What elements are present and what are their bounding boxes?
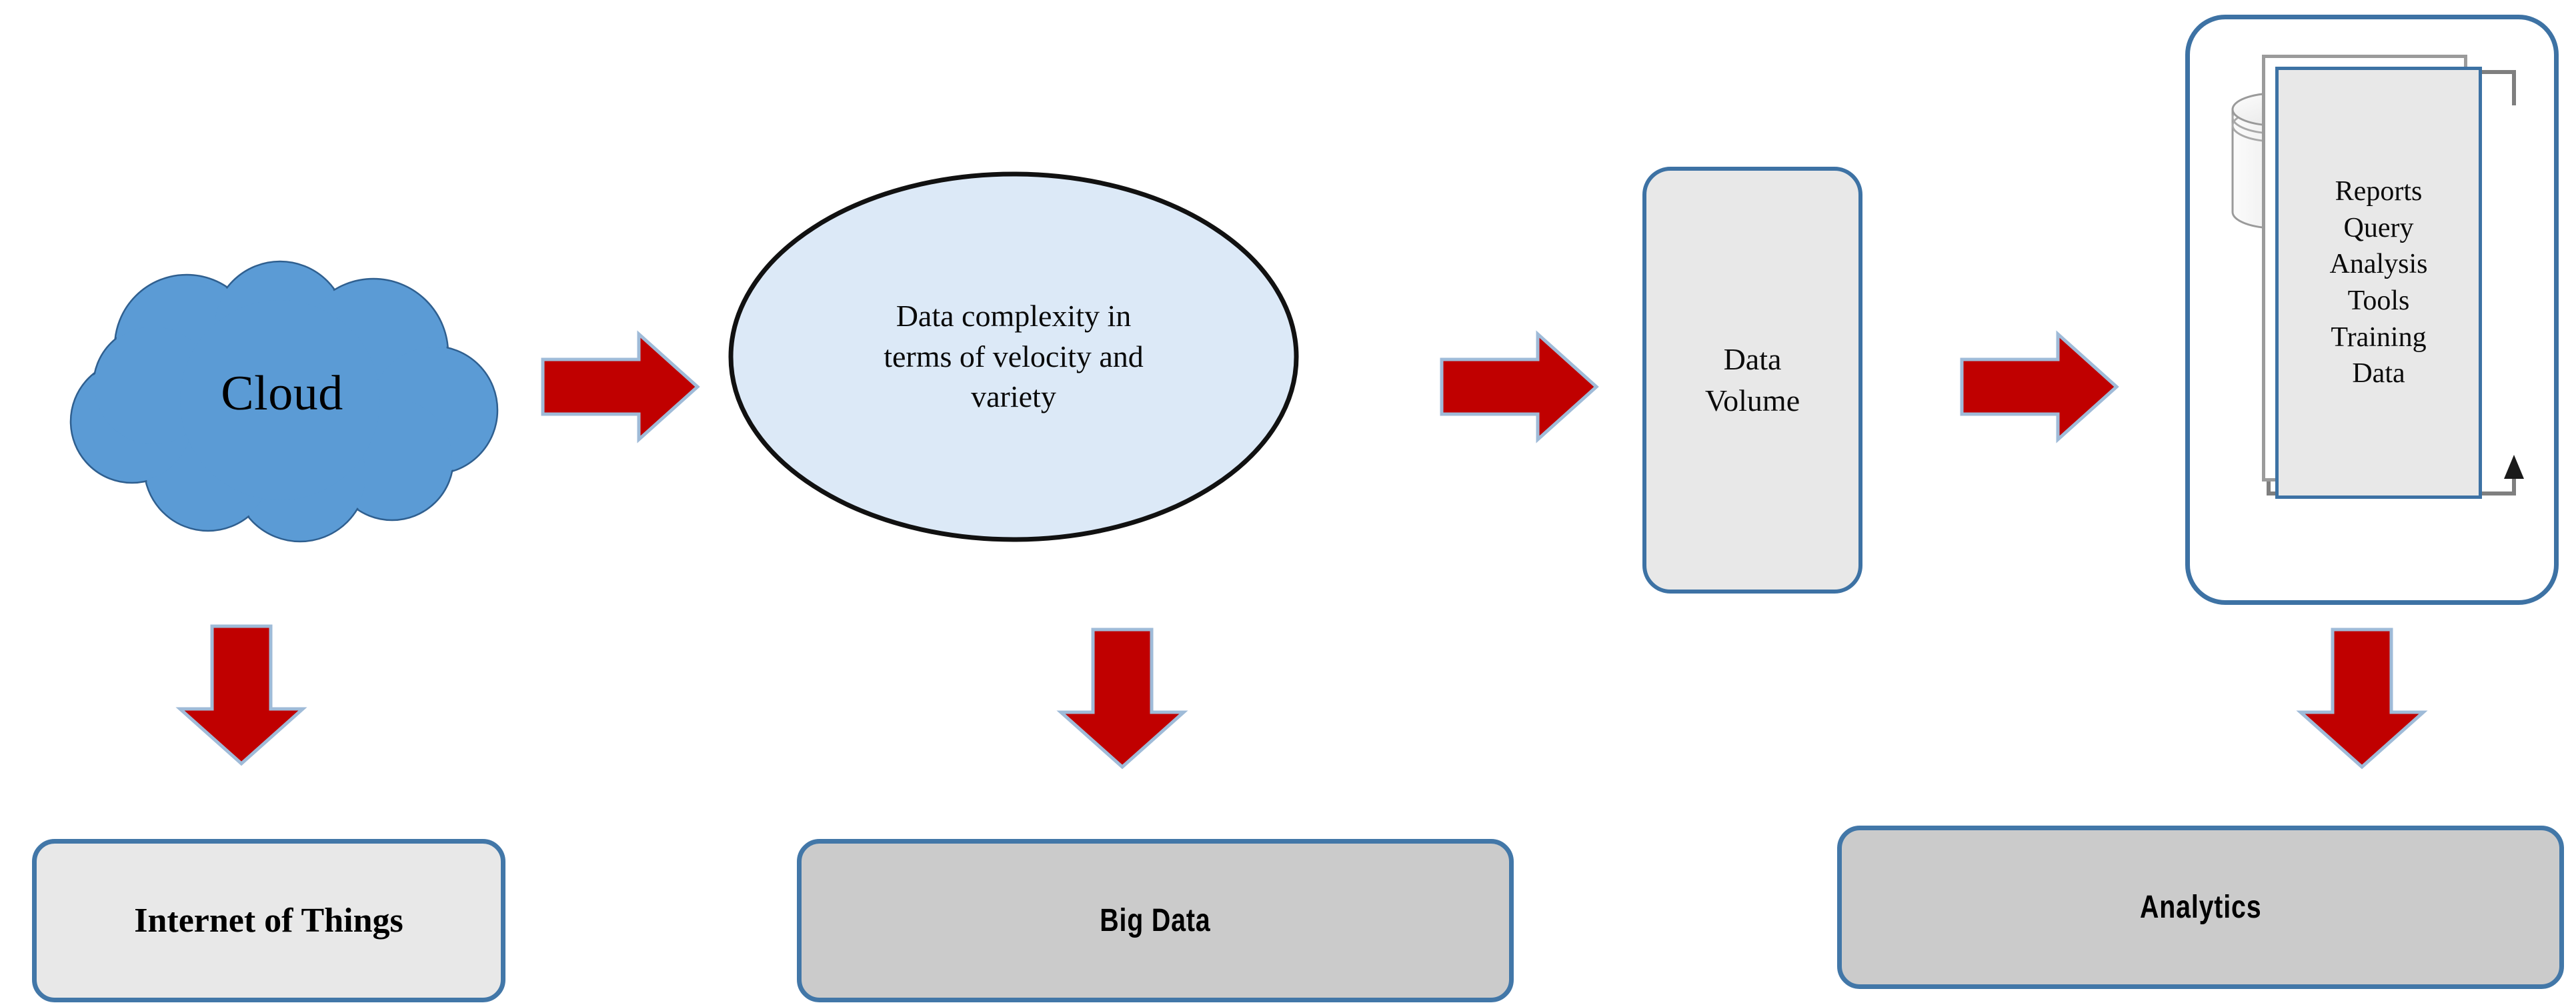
node-analytics[interactable]: Analytics — [1837, 826, 2564, 989]
node-data-complexity[interactable]: Data complexity in terms of velocity and… — [727, 170, 1300, 544]
arrow-data-volume-to-analytics — [1959, 330, 2119, 443]
ellipse-line-2: terms of velocity and — [884, 337, 1144, 377]
node-big-data[interactable]: Big Data — [797, 839, 1514, 1002]
analytics-label: Analytics — [2140, 889, 2261, 926]
document-item-analysis: Analysis — [2330, 246, 2428, 283]
node-internet-of-things[interactable]: Internet of Things — [32, 839, 505, 1002]
arrow-cloud-to-ellipse — [540, 330, 700, 443]
data-volume-line-2: Volume — [1705, 380, 1800, 421]
cloud-label: Cloud — [60, 267, 500, 520]
document-item-training: Training — [2330, 319, 2428, 356]
ellipse-line-3: variety — [884, 377, 1144, 417]
arrow-ellipse-to-data-volume — [1439, 330, 1599, 443]
internet-of-things-label: Internet of Things — [134, 901, 403, 940]
arrow-cluster-to-analytics — [2295, 627, 2429, 770]
ellipse-label: Data complexity in terms of velocity and… — [807, 170, 1220, 544]
diagram-canvas: Cloud Data complexity in terms of veloci… — [0, 0, 2576, 1007]
node-cloud[interactable]: Cloud — [60, 267, 500, 520]
big-data-label: Big Data — [1100, 902, 1210, 939]
document-item-query: Query — [2330, 210, 2428, 247]
arrow-ellipse-to-big-data — [1056, 627, 1189, 770]
document-item-list: Reports Query Analysis Tools Training Da… — [2330, 173, 2428, 392]
document-item-tools: Tools — [2330, 283, 2428, 319]
data-volume-line-1: Data — [1705, 339, 1800, 380]
data-volume-label: Data Volume — [1705, 339, 1800, 421]
node-analysis-document[interactable]: Reports Query Analysis Tools Training Da… — [2275, 67, 2482, 499]
node-data-volume[interactable]: Data Volume — [1642, 167, 1862, 594]
document-item-reports: Reports — [2330, 173, 2428, 210]
document-item-data: Data — [2330, 355, 2428, 392]
ellipse-line-1: Data complexity in — [884, 296, 1144, 337]
arrow-cloud-to-iot — [175, 624, 308, 767]
